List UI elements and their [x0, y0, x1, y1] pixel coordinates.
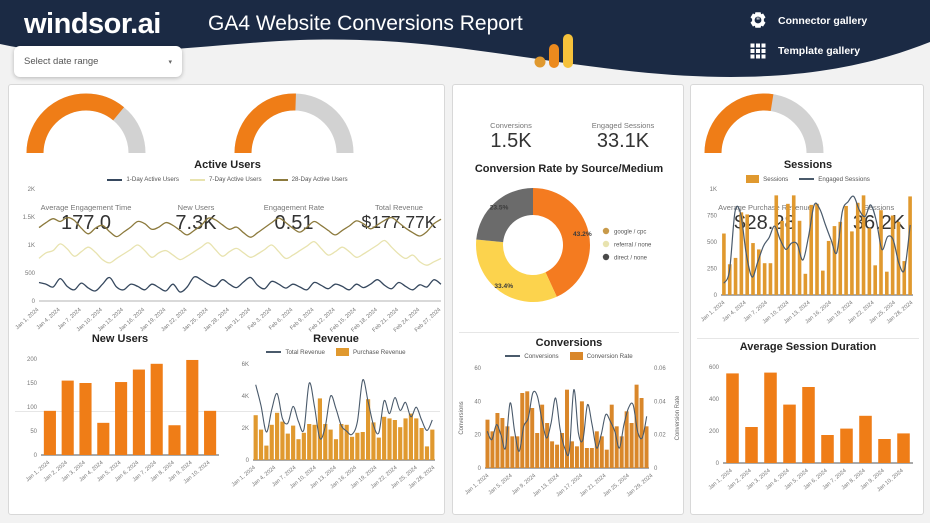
legend-label: Conversions	[524, 353, 558, 360]
header-links: Connector gallery Template gallery	[748, 8, 867, 68]
legend-sessions: Sessions Engaged Sessions	[691, 175, 924, 183]
svg-text:200: 200	[709, 429, 720, 435]
svg-text:60: 60	[474, 366, 481, 372]
page-title: GA4 Website Conversions Report	[208, 12, 523, 36]
svg-text:0.06: 0.06	[654, 366, 666, 372]
panel-center: Conversions 1.5K Engaged Sessions 33.1K …	[452, 84, 684, 515]
legend-item[interactable]: Total Revenue	[266, 349, 325, 356]
svg-text:100: 100	[27, 405, 38, 411]
connector-gallery-link[interactable]: Connector gallery	[748, 8, 867, 34]
divider	[697, 338, 919, 339]
legend-swatch	[505, 355, 520, 357]
svg-text:direct / none: direct / none	[614, 256, 648, 262]
legend-swatch	[799, 178, 814, 180]
chart-average-session-duration: Average Session Duration 0200400600Jan 1…	[691, 341, 924, 514]
svg-text:6K: 6K	[242, 362, 249, 368]
chart-sessions: Sessions Sessions Engaged Sessions 02505…	[691, 159, 924, 344]
svg-text:0: 0	[714, 293, 718, 299]
svg-text:Conversions: Conversions	[459, 401, 465, 434]
svg-text:2K: 2K	[28, 187, 35, 193]
panel-right: Average Purchase Revenue $28.28 Sessions…	[690, 84, 924, 515]
legend-swatch	[190, 179, 205, 181]
svg-text:0: 0	[32, 299, 36, 305]
legend-label: 7-Day Active Users	[209, 176, 262, 183]
template-gallery-label: Template gallery	[778, 45, 860, 57]
legend-label: 28-Day Active Users	[292, 176, 348, 183]
svg-text:500: 500	[707, 240, 718, 246]
svg-text:1.5K: 1.5K	[23, 215, 35, 221]
chart-conversion-rate-by-source-medium: Conversion Rate by Source/Medium 43.2%33…	[453, 163, 684, 322]
chart-title-sessions: Sessions	[691, 159, 924, 171]
legend-swatch	[107, 179, 122, 181]
legend-item[interactable]: 7-Day Active Users	[190, 176, 262, 183]
chart-new-users: New Users 050100150200Jan 1, 2024Jan 2, …	[11, 333, 229, 515]
svg-text:0: 0	[716, 461, 720, 467]
kpi-value-engaged-sessions: 33.1K	[565, 130, 681, 153]
kpi-label-conversions: Conversions	[459, 121, 563, 130]
gauge-engagement-rate	[231, 87, 357, 164]
panel-left: Average Engagement Time 177.0 New Users …	[8, 84, 445, 515]
plot-donut: 43.2%33.4%23.5%google / cpcreferral / no…	[453, 175, 684, 317]
legend-swatch	[273, 179, 288, 181]
legend-label: Sessions	[763, 176, 788, 183]
legend-swatch	[336, 348, 349, 356]
svg-text:20: 20	[474, 433, 481, 439]
svg-text:google / cpc: google / cpc	[614, 230, 646, 236]
plot-revenue: 02K4K6KJan 1, 2024Jan 4, 2024Jan 7, 2024…	[227, 356, 445, 508]
legend-swatch	[746, 175, 759, 183]
date-range-picker[interactable]: Select date range ▾	[14, 46, 182, 77]
google-analytics-icon	[533, 34, 581, 73]
legend-swatch	[266, 351, 281, 353]
chart-title-new-users: New Users	[11, 333, 229, 345]
kpi-label-engaged-sessions: Engaged Sessions	[565, 121, 681, 130]
svg-text:0.02: 0.02	[654, 433, 666, 439]
svg-text:600: 600	[709, 365, 720, 371]
legend-item[interactable]: Conversions	[505, 353, 558, 360]
legend-item[interactable]: 1-Day Active Users	[107, 176, 179, 183]
svg-text:250: 250	[707, 267, 718, 273]
svg-text:1K: 1K	[28, 243, 35, 249]
gauge-average-engagement-time	[23, 87, 149, 164]
date-range-label: Select date range	[24, 56, 168, 67]
chart-active-users: Active Users 1-Day Active Users 7-Day Ac…	[9, 159, 445, 340]
legend-label: Conversion Rate	[587, 353, 633, 360]
svg-text:Conversion Rate: Conversion Rate	[675, 395, 681, 440]
svg-text:50: 50	[30, 429, 37, 435]
divider	[459, 332, 679, 333]
plot-conversions: 020406000.020.040.06ConversionsConversio…	[453, 360, 684, 515]
chart-title-conversion-rate: Conversion Rate by Source/Medium	[453, 163, 684, 175]
kpi-value-conversions: 1.5K	[459, 130, 563, 153]
svg-text:1K: 1K	[710, 187, 717, 193]
chart-title-conversions: Conversions	[453, 337, 684, 349]
svg-text:2K: 2K	[242, 426, 249, 432]
connector-plug-icon	[748, 11, 768, 31]
plot-new-users: 050100150200Jan 1, 2024Jan 2, 2024Jan 3,…	[11, 345, 229, 510]
legend-label: 1-Day Active Users	[126, 176, 179, 183]
svg-text:4K: 4K	[242, 394, 249, 400]
legend-conversions: Conversions Conversion Rate	[453, 352, 684, 360]
svg-text:400: 400	[709, 397, 720, 403]
chart-revenue: Revenue Total Revenue Purchase Revenue 0…	[227, 333, 445, 513]
chart-conversions: Conversions Conversions Conversion Rate …	[453, 337, 684, 515]
chart-title-revenue: Revenue	[227, 333, 445, 345]
svg-text:0.04: 0.04	[654, 399, 666, 405]
plot-sessions: 02505007501KJan 1, 2024Jan 4, 2024Jan 7,…	[691, 183, 924, 339]
connector-gallery-label: Connector gallery	[778, 15, 867, 27]
chevron-down-icon: ▾	[168, 58, 172, 66]
svg-text:0: 0	[478, 466, 482, 472]
plot-active-users: 05001K1.5K2KJan 1, 2024Jan 4, 2024Jan 7,…	[9, 183, 445, 335]
svg-text:200: 200	[27, 357, 38, 363]
grid-icon	[748, 41, 768, 61]
brand-logo: windsor.ai	[24, 8, 161, 41]
svg-text:0: 0	[654, 466, 658, 472]
chart-title-average-session-duration: Average Session Duration	[691, 341, 924, 353]
svg-text:43.2%: 43.2%	[573, 231, 592, 238]
svg-text:150: 150	[27, 381, 38, 387]
plot-average-session-duration: 0200400600Jan 1, 2024Jan 2, 2024Jan 3, 2…	[691, 353, 924, 509]
legend-revenue: Total Revenue Purchase Revenue	[227, 348, 445, 356]
svg-text:Jan 1, 2024: Jan 1, 2024	[464, 473, 490, 496]
svg-text:0: 0	[34, 453, 38, 459]
legend-item[interactable]: Conversion Rate	[570, 352, 633, 360]
chart-title-active-users: Active Users	[9, 159, 445, 171]
legend-label: Engaged Sessions	[818, 176, 870, 183]
svg-text:33.4%: 33.4%	[494, 283, 513, 290]
legend-label: Total Revenue	[285, 349, 325, 356]
svg-text:0: 0	[246, 458, 250, 464]
svg-text:500: 500	[25, 271, 36, 277]
gauge-average-purchase-revenue	[701, 87, 827, 164]
legend-label: Purchase Revenue	[353, 349, 406, 356]
svg-text:referral / none: referral / none	[614, 243, 652, 249]
svg-text:40: 40	[474, 399, 481, 405]
legend-item[interactable]: Sessions	[746, 175, 788, 183]
legend-item[interactable]: Purchase Revenue	[336, 348, 406, 356]
legend-item[interactable]: Engaged Sessions	[799, 176, 870, 183]
template-gallery-link[interactable]: Template gallery	[748, 38, 867, 64]
legend-active-users: 1-Day Active Users 7-Day Active Users 28…	[9, 176, 445, 183]
legend-swatch	[570, 352, 583, 360]
svg-text:23.5%: 23.5%	[490, 205, 509, 212]
svg-text:Jan 5, 2024: Jan 5, 2024	[487, 473, 513, 496]
svg-text:750: 750	[707, 214, 718, 220]
legend-item[interactable]: 28-Day Active Users	[273, 176, 348, 183]
